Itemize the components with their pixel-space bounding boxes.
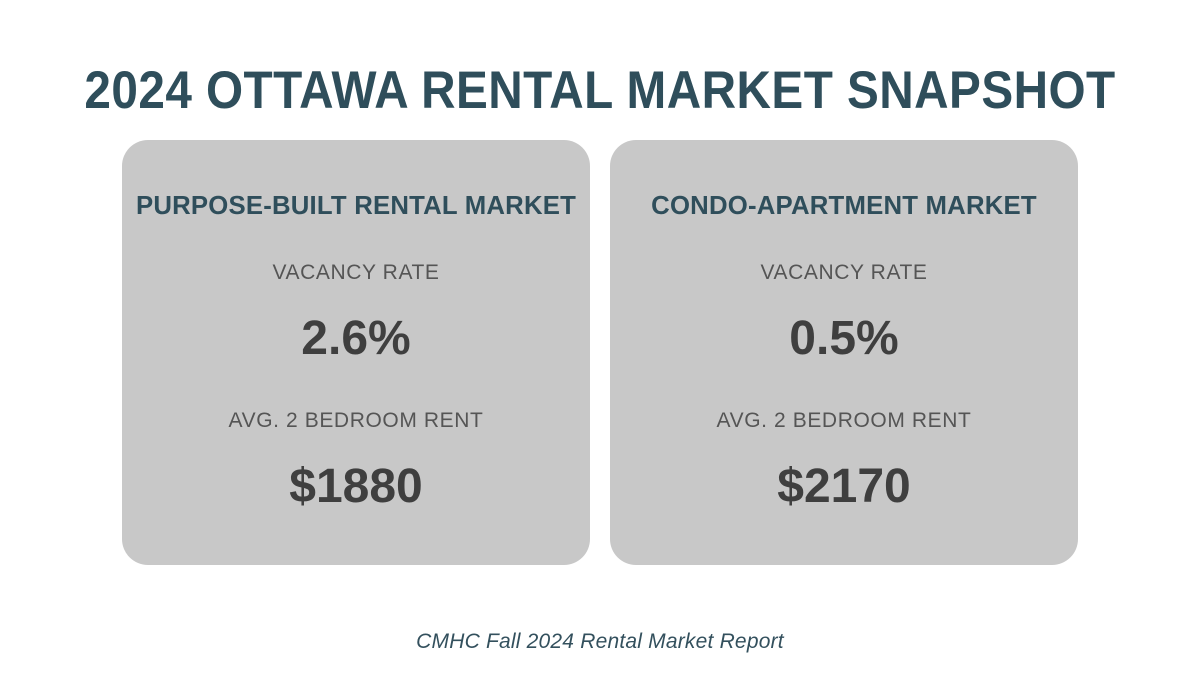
- stat-label: AVG. 2 BEDROOM RENT: [122, 408, 590, 434]
- card-header-purpose-built: PURPOSE-BUILT RENTAL MARKET: [124, 190, 587, 220]
- stat-value: 0.5%: [610, 312, 1078, 366]
- card-header-condo-apartment: CONDO-APARTMENT MARKET: [612, 190, 1075, 220]
- stat-avg-2-bedroom-rent-condo-apartment: AVG. 2 BEDROOM RENT $2170: [610, 408, 1078, 514]
- market-cards-row: PURPOSE-BUILT RENTAL MARKET VACANCY RATE…: [122, 140, 1078, 565]
- stat-avg-2-bedroom-rent-purpose-built: AVG. 2 BEDROOM RENT $1880: [122, 408, 590, 514]
- snapshot-slide: 2024 OTTAWA RENTAL MARKET SNAPSHOT PURPO…: [0, 0, 1200, 675]
- stat-label: VACANCY RATE: [610, 260, 1078, 286]
- stat-vacancy-rate-purpose-built: VACANCY RATE 2.6%: [122, 260, 590, 366]
- stat-value: $2170: [610, 460, 1078, 514]
- stat-value: $1880: [122, 460, 590, 514]
- card-condo-apartment-market: CONDO-APARTMENT MARKET VACANCY RATE 0.5%…: [610, 140, 1078, 565]
- stat-value: 2.6%: [122, 312, 590, 366]
- stat-label: VACANCY RATE: [122, 260, 590, 286]
- source-caption: CMHC Fall 2024 Rental Market Report: [0, 629, 1200, 655]
- page-title: 2024 OTTAWA RENTAL MARKET SNAPSHOT: [60, 62, 1140, 120]
- stat-label: AVG. 2 BEDROOM RENT: [610, 408, 1078, 434]
- card-purpose-built-rental-market: PURPOSE-BUILT RENTAL MARKET VACANCY RATE…: [122, 140, 590, 565]
- stat-vacancy-rate-condo-apartment: VACANCY RATE 0.5%: [610, 260, 1078, 366]
